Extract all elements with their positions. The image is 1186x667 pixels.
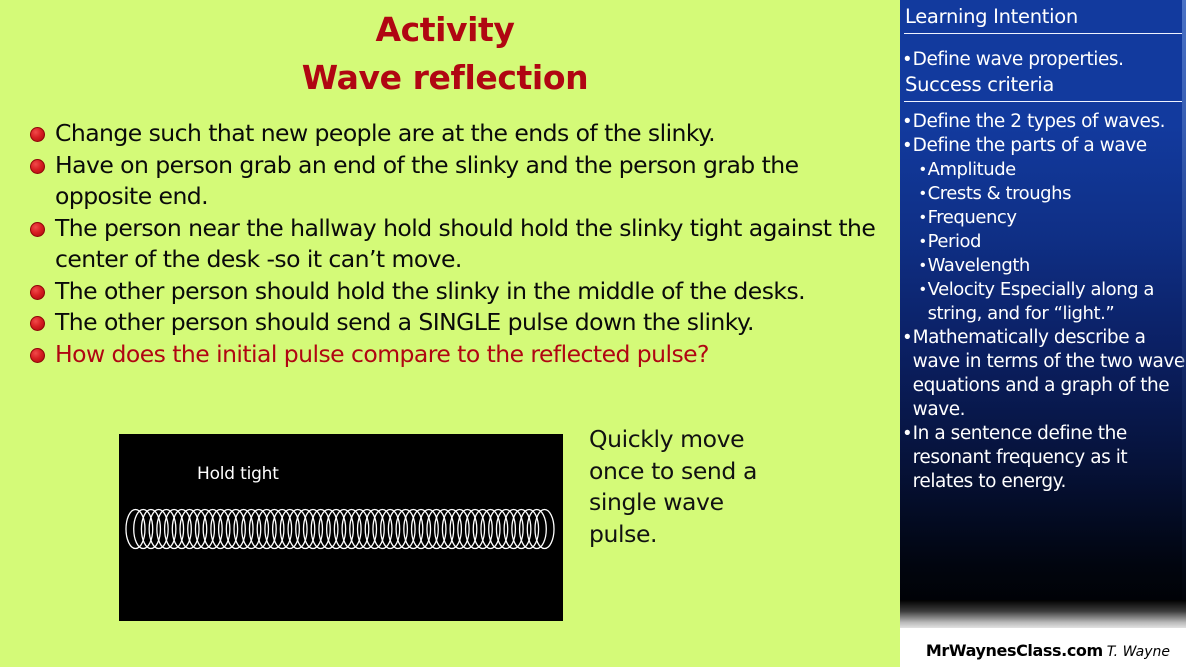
footer-left-background — [0, 628, 900, 667]
success-criteria-label: Velocity Especially along a string, and … — [928, 278, 1186, 326]
bullet-dot-icon — [30, 159, 45, 174]
slide-canvas: Activity Wave reflection Change such tha… — [0, 0, 1186, 667]
author-name-label: T. Wayne — [1107, 644, 1170, 660]
bullet-dot-icon: • — [920, 254, 926, 278]
panel-item-define-wave-properties: • Define wave properties. — [900, 48, 1186, 72]
title-line-topic: Wave reflection — [0, 54, 890, 102]
success-criteria-item: •Crests & troughs — [900, 182, 1186, 206]
instruction-bullet: Change such that new people are at the e… — [30, 118, 880, 150]
bullet-dot-icon — [30, 348, 45, 363]
bullet-dot-icon: • — [920, 230, 926, 254]
instruction-bullet-label: The other person should send a SINGLE pu… — [55, 307, 754, 339]
success-criteria-list: •Define the 2 types of waves.•Define the… — [900, 110, 1186, 494]
instruction-bullet-label: Change such that new people are at the e… — [55, 118, 715, 150]
success-criteria-label: Mathematically describe a wave in terms … — [913, 326, 1186, 422]
bullet-dot-icon: • — [920, 206, 926, 230]
panel-divider-middle — [904, 101, 1182, 102]
instruction-bullet: The other person should hold the slinky … — [30, 276, 880, 308]
success-criteria-item: •Define the 2 types of waves. — [900, 110, 1186, 134]
instruction-bullet-list: Change such that new people are at the e… — [30, 118, 880, 370]
instruction-bullet-label: How does the initial pulse compare to th… — [55, 339, 709, 371]
bullet-dot-icon — [30, 316, 45, 331]
bullet-dot-icon: • — [904, 326, 911, 350]
success-criteria-item: •Frequency — [900, 206, 1186, 230]
slinky-hold-tight-label: Hold tight — [197, 464, 279, 484]
success-criteria-item: •In a sentence define the resonant frequ… — [900, 422, 1186, 494]
success-criteria-label: In a sentence define the resonant freque… — [913, 422, 1186, 494]
panel-heading-learning-intention: Learning Intention — [900, 4, 1186, 30]
instruction-bullet-label: The person near the hallway hold should … — [55, 213, 880, 276]
bullet-dot-icon: • — [920, 278, 926, 302]
success-criteria-label: Frequency — [928, 206, 1017, 230]
success-criteria-item: •Wavelength — [900, 254, 1186, 278]
success-criteria-label: Amplitude — [928, 158, 1016, 182]
site-name-label: MrWaynesClass.com — [926, 641, 1103, 660]
bullet-dot-icon — [30, 127, 45, 142]
instruction-bullet-label: The other person should hold the slinky … — [55, 276, 805, 308]
success-criteria-item: •Amplitude — [900, 158, 1186, 182]
success-criteria-label: Crests & troughs — [928, 182, 1071, 206]
bullet-dot-icon — [30, 222, 45, 237]
success-criteria-label: Define the 2 types of waves. — [913, 110, 1165, 134]
bullet-dot-icon — [30, 285, 45, 300]
instruction-bullet-label: Have on person grab an end of the slinky… — [55, 150, 880, 213]
instruction-bullet: Have on person grab an end of the slinky… — [30, 150, 880, 213]
success-criteria-item: •Define the parts of a wave — [900, 134, 1186, 158]
panel-right-edge-highlight — [1182, 0, 1186, 628]
bullet-dot-icon: • — [904, 134, 911, 158]
bullet-dot-icon: • — [920, 182, 926, 206]
slinky-figure: Hold tight — [119, 434, 563, 621]
instruction-bullet: The other person should send a SINGLE pu… — [30, 307, 880, 339]
success-criteria-label: Wavelength — [928, 254, 1030, 278]
instruction-bullet: How does the initial pulse compare to th… — [30, 339, 880, 371]
instruction-bullet: The person near the hallway hold should … — [30, 213, 880, 276]
bullet-dot-icon: • — [904, 110, 911, 134]
success-criteria-label: Period — [928, 230, 981, 254]
slide-title: Activity Wave reflection — [0, 6, 890, 102]
success-criteria-item: •Velocity Especially along a string, and… — [900, 278, 1186, 326]
figure-caption: Quickly move once to send a single wave … — [589, 424, 769, 550]
learning-objectives-panel: Learning Intention • Define wave propert… — [900, 0, 1186, 628]
bullet-dot-icon: • — [904, 422, 911, 446]
title-line-activity: Activity — [0, 6, 890, 54]
main-content-area: Activity Wave reflection Change such tha… — [0, 0, 900, 667]
success-criteria-item: •Mathematically describe a wave in terms… — [900, 326, 1186, 422]
success-criteria-label: Define the parts of a wave — [913, 134, 1147, 158]
panel-divider-top — [904, 33, 1182, 34]
footer-credit: MrWaynesClass.comT. Wayne — [926, 641, 1170, 661]
panel-item-label: Define wave properties. — [913, 48, 1124, 72]
slinky-coil-illustration — [125, 507, 557, 551]
bullet-dot-icon: • — [920, 158, 926, 182]
bullet-dot-icon: • — [904, 48, 911, 72]
panel-heading-success-criteria: Success criteria — [900, 72, 1186, 98]
success-criteria-item: •Period — [900, 230, 1186, 254]
